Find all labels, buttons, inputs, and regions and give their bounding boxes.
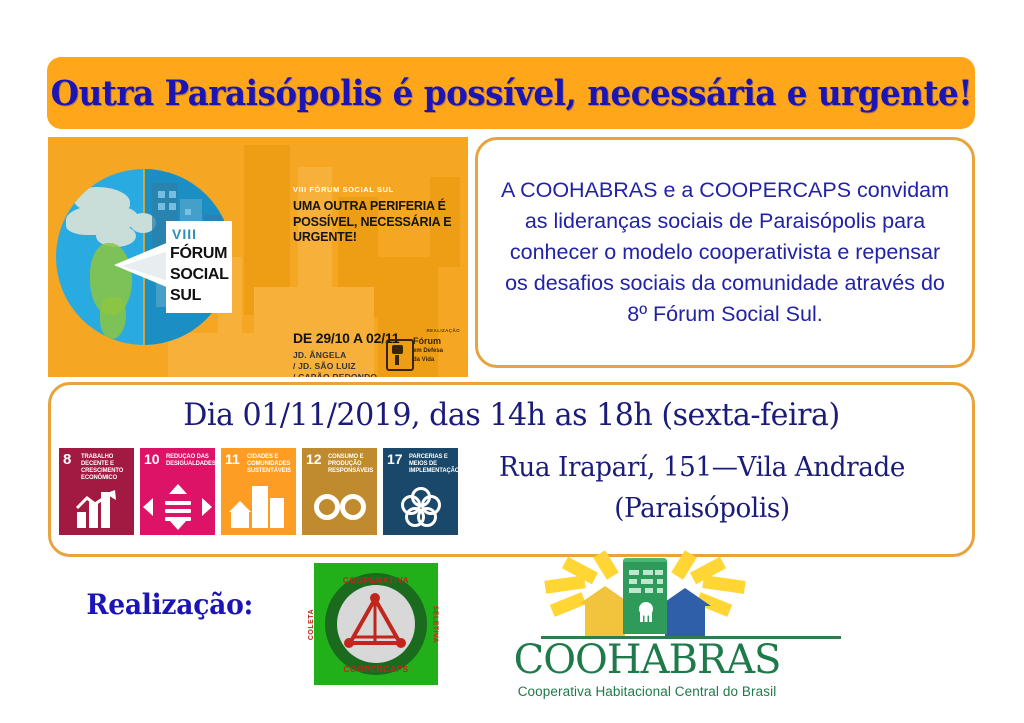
sdg-tile-12: 12 Consumo e produção responsáveis xyxy=(302,448,377,535)
paper-plane-logo: VIII FÓRUM SOCIAL SUL xyxy=(114,221,232,313)
poster-places: JD. ÂNGELA / JD. SÃO LUIZ / CAPÃO REDOND… xyxy=(293,350,377,377)
forum-defesa-vida-name: Fórum em Defesa da Vida xyxy=(413,337,443,366)
forum-poster-image: VIII FÓRUM SOCIAL SUL VIII FÓRUM SOCIAL … xyxy=(48,137,468,377)
sdg-number: 12 xyxy=(306,452,322,467)
poster-kicker: VIII FÓRUM SOCIAL SUL xyxy=(293,185,461,194)
poster-place-1: JD. ÂNGELA xyxy=(293,350,377,361)
forum-edition-number: VIII xyxy=(172,226,197,242)
forum-defesa-vida-logo: REALIZAÇÃO Fórum em Defesa da Vida xyxy=(386,337,460,371)
sdg-number: 17 xyxy=(387,452,403,467)
coohabras-logo: COOHABRAS Cooperativa Habitacional Centr… xyxy=(497,558,797,686)
sdg-number: 11 xyxy=(225,452,240,467)
event-date-line: Dia 01/11/2019, das 14h as 18h (sexta-fe… xyxy=(65,397,958,433)
coohabras-wordmark: COOHABRAS xyxy=(497,638,797,682)
sdg-tile-17: 17 Parcerias e meios de implementação xyxy=(383,448,458,535)
sdg-label: Trabalho decente e crescimento econômico xyxy=(81,453,129,481)
flyer-title: Outra Paraisópolis é possível, necessári… xyxy=(50,73,971,114)
invitation-box: A COOHABRAS e a COOPERCAPS convidam as l… xyxy=(475,137,975,368)
sdg-label: Parcerias e meios de implementação xyxy=(409,453,453,474)
blue-house xyxy=(665,604,705,636)
plane-wing-shadow-icon xyxy=(122,251,168,281)
sdg-icon-row: 8 Trabalho decente e crescimento econômi… xyxy=(59,448,458,535)
infinity-loop-icon xyxy=(302,484,377,530)
poster-headline: UMA OUTRA PERIFERIA É POSSÍVEL, NECESSÁR… xyxy=(293,199,461,246)
interlocking-circles-icon xyxy=(383,484,458,530)
growth-chart-icon xyxy=(59,484,134,530)
coopercaps-ring-right-text: SELETIVA xyxy=(432,606,439,644)
event-address-line-2: (Paraisópolis) xyxy=(460,488,945,529)
forum-logo-line-2: SOCIAL xyxy=(170,264,229,285)
fdv-line-3: da Vida xyxy=(413,356,443,366)
sdg-number: 10 xyxy=(144,452,160,467)
sdg-number: 8 xyxy=(63,452,71,467)
coohabras-tagline: Cooperativa Habitacional Central do Bras… xyxy=(497,684,797,699)
poster-text-column: VIII FÓRUM SOCIAL SUL UMA OUTRA PERIFERI… xyxy=(293,185,461,246)
realizacao-label: Realização: xyxy=(86,588,253,621)
event-address-block: Rua Iraparí, 151—Vila Andrade (Paraisópo… xyxy=(460,447,945,529)
sdg-tile-10: 10 Redução das desigualdades xyxy=(140,448,215,535)
title-banner: Outra Paraisópolis é possível, necessári… xyxy=(47,57,975,129)
yellow-house xyxy=(585,602,625,636)
growth-arrow-icon xyxy=(75,490,117,512)
sdg-tile-11: 11 Cidades e comunidades sustentáveis xyxy=(221,448,296,535)
event-address-line-1: Rua Iraparí, 151—Vila Andrade xyxy=(460,447,945,488)
equality-arrows-icon xyxy=(140,484,215,530)
event-details-box: Dia 01/11/2019, das 14h as 18h (sexta-fe… xyxy=(48,382,975,557)
poster-place-3: / CAPÃO REDONDO xyxy=(293,372,377,377)
forum-logo-line-1: FÓRUM xyxy=(170,243,229,264)
poster-place-2: / JD. SÃO LUIZ xyxy=(293,361,377,372)
forum-logo-line-3: SUL xyxy=(170,285,229,306)
poster-date-range: DE 29/10 A 02/11 xyxy=(293,330,399,346)
fdv-line-1: Fórum xyxy=(413,337,443,347)
flyer-page: Outra Paraisópolis é possível, necessári… xyxy=(0,0,1024,723)
forum-logo-lines: FÓRUM SOCIAL SUL xyxy=(170,243,229,306)
coopercaps-ring-top-text: COOPERATIVA xyxy=(314,575,438,585)
sdg-label: Redução das desigualdades xyxy=(166,453,210,467)
sdg-tile-8: 8 Trabalho decente e crescimento econômi… xyxy=(59,448,134,535)
sdg-label: Consumo e produção responsáveis xyxy=(328,453,372,474)
coopercaps-ring-bottom-text: COOPERCAPS xyxy=(314,664,438,674)
coohabras-emblem xyxy=(541,558,753,640)
invitation-text: A COOHABRAS e a COOPERCAPS convidam as l… xyxy=(478,175,972,330)
tower-emblem-icon xyxy=(633,602,659,624)
raised-fist-icon xyxy=(386,339,414,371)
city-buildings-icon xyxy=(221,484,296,530)
poster-credit-kicker: REALIZAÇÃO xyxy=(427,328,461,333)
coopercaps-logo: COOPERATIVA COOPERCAPS COLETA SELETIVA xyxy=(314,563,438,685)
fdv-line-2: em Defesa xyxy=(413,347,443,357)
sdg-label: Cidades e comunidades sustentáveis xyxy=(247,453,291,474)
coopercaps-triangle-icon xyxy=(344,593,406,651)
coopercaps-ring-left-text: COLETA xyxy=(308,609,315,640)
